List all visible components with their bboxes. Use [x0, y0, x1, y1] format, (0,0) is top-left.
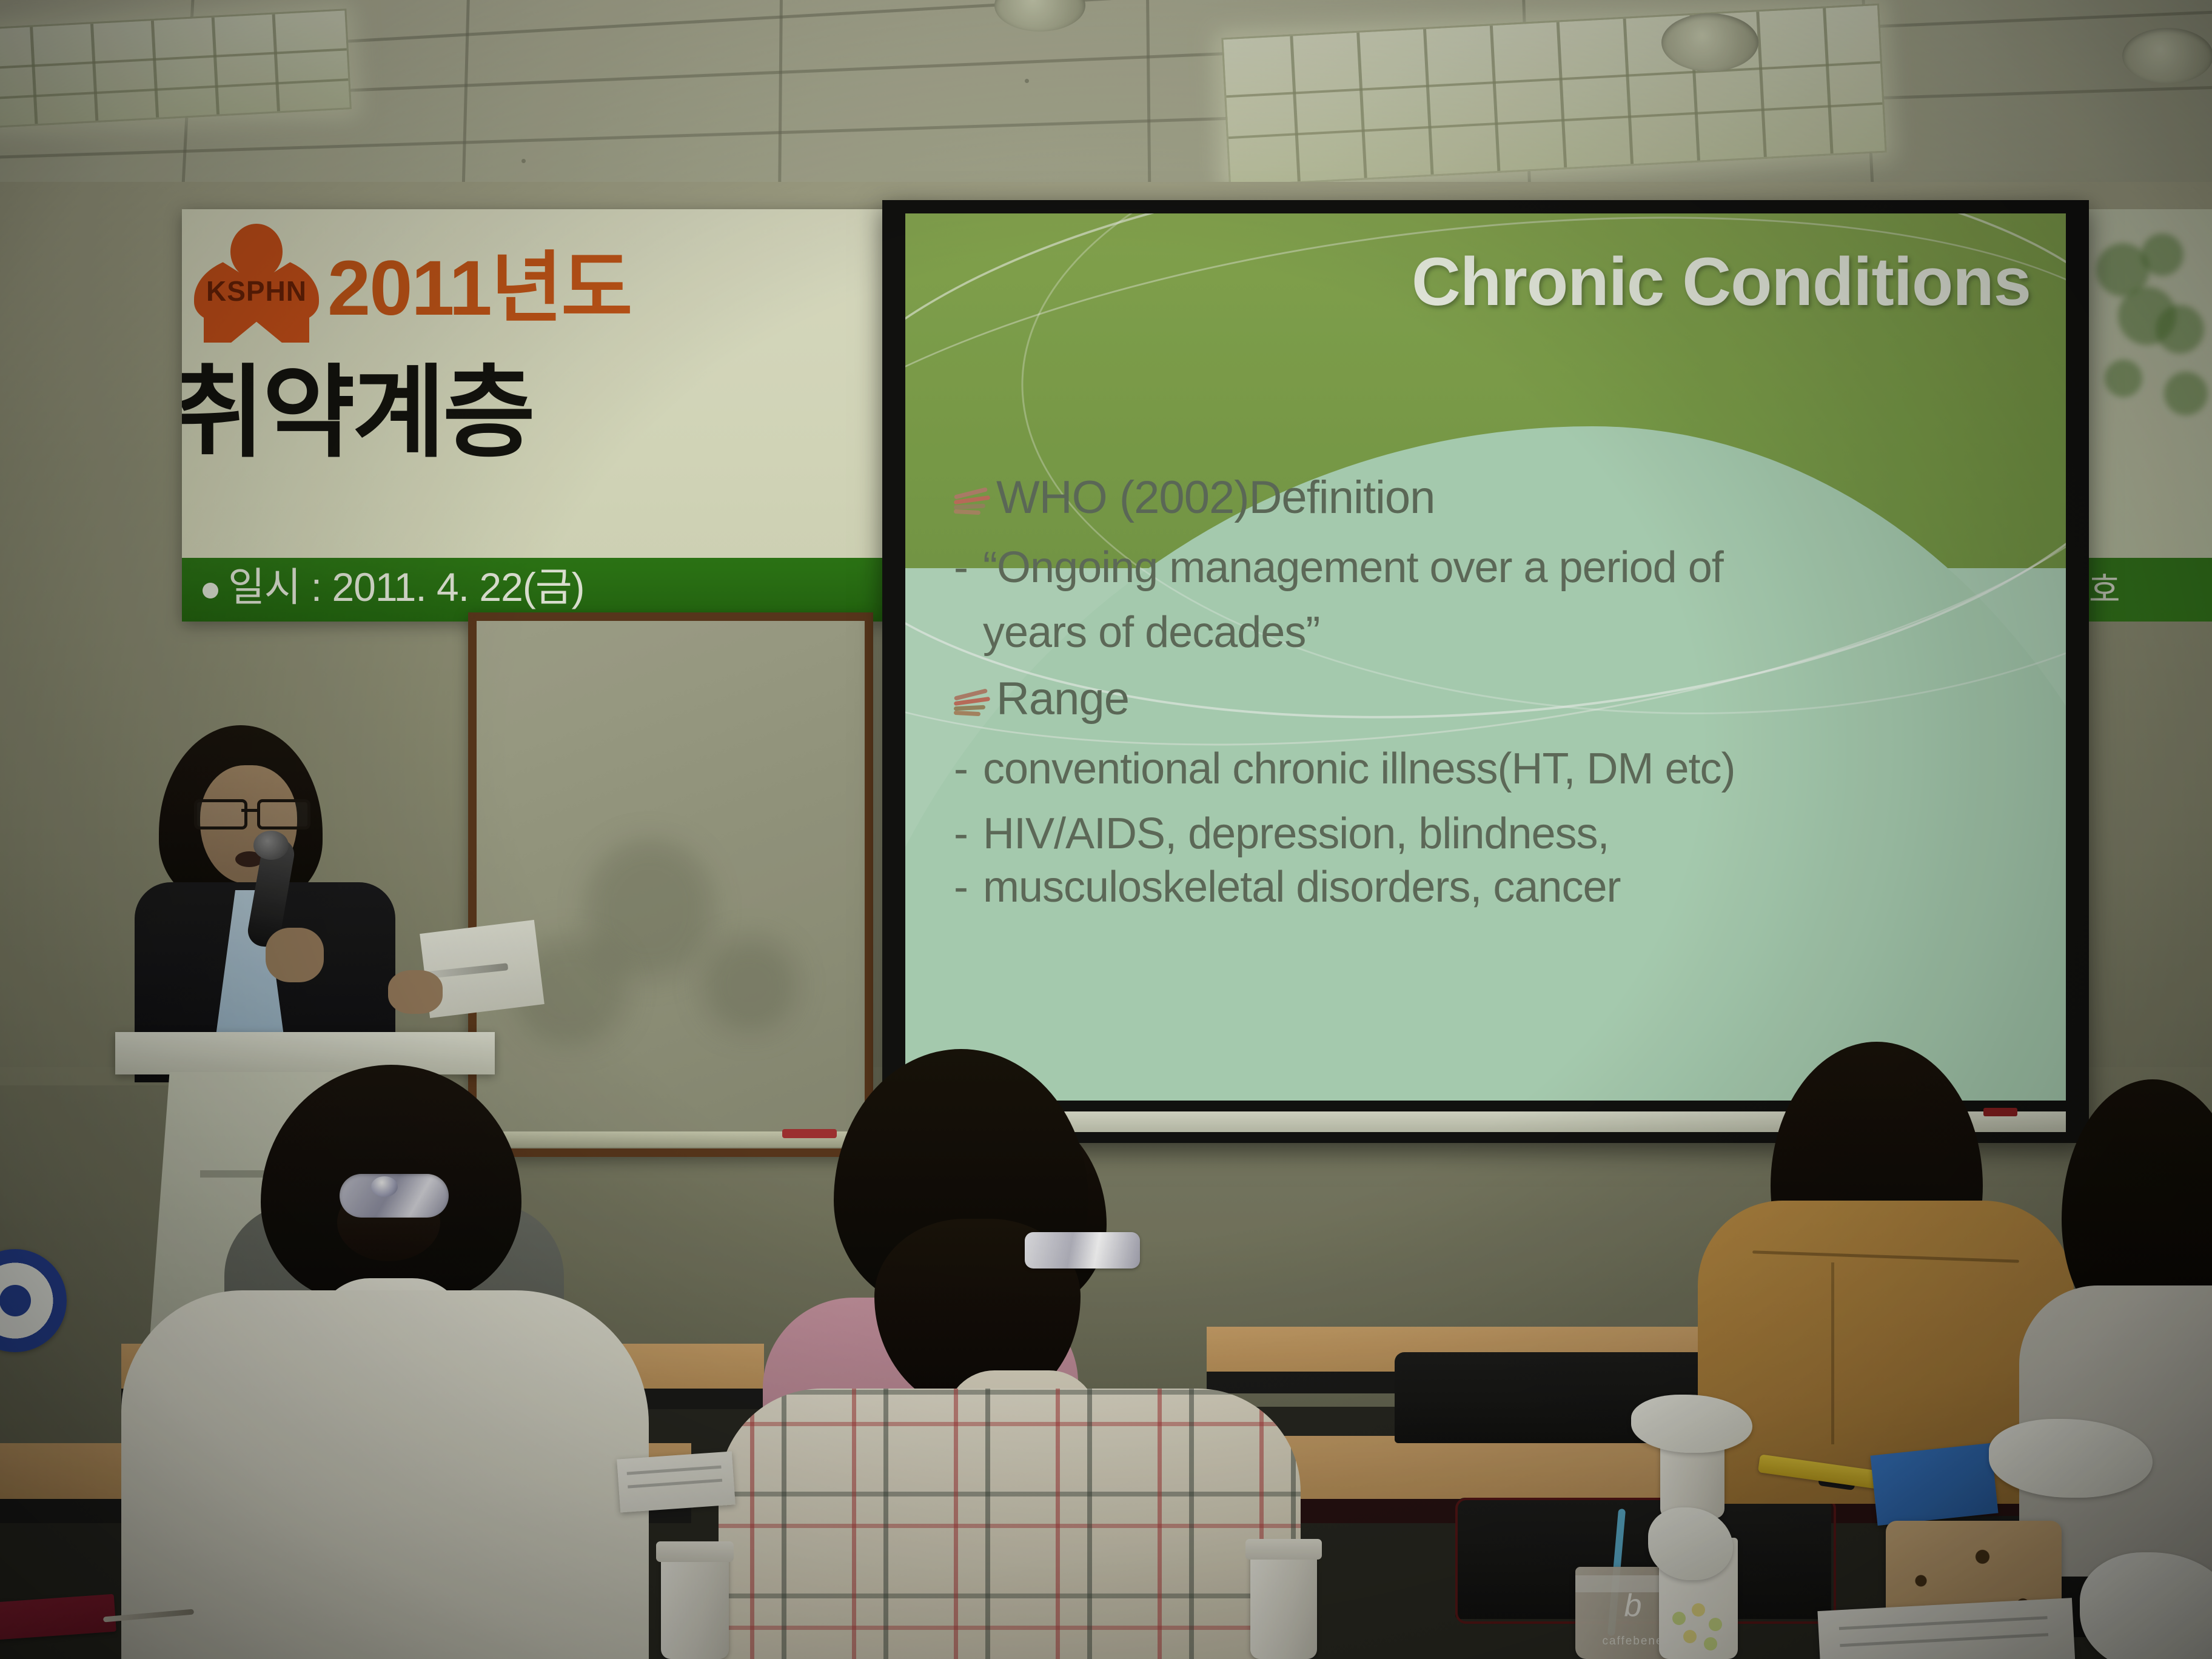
glasses-bridge-icon — [241, 809, 257, 812]
banner-right-fragment: 호 — [2089, 563, 2120, 612]
slide-bullet-4-text: conventional chronic illness(HT, DM etc) — [983, 747, 1735, 791]
event-banner-right-edge: 호 — [2083, 209, 2212, 622]
papers-front-right[interactable] — [1817, 1598, 2075, 1659]
slide-bullet-6: - musculoskeletal disorders, cancer — [954, 865, 2039, 910]
slide-bullet-1: - “Ongoing management over a period of — [954, 546, 2039, 590]
feather-bullet-icon-2 — [954, 690, 991, 718]
glasses-lens-left-icon — [194, 799, 247, 829]
projection-screen: Chronic Conditions WHO (2002)Definition … — [882, 200, 2089, 1143]
banner-date-text: 일시 : 2011. 4. 22(금) — [203, 555, 585, 613]
slide-title: Chronic Conditions — [905, 243, 2031, 321]
dash-bullet-icon-3: - — [954, 812, 983, 856]
event-banner: KSPHN 2011년도 취약계층 일시 : 2011. 4. 22(금) — [182, 209, 940, 622]
scrunchie-gem-icon — [371, 1176, 398, 1197]
audience-white-sweater-body — [121, 1290, 649, 1659]
recessed-downlight-2 — [1661, 13, 1758, 72]
dash-bullet-icon-2: - — [954, 747, 983, 791]
slide-bullet-6-text: musculoskeletal disorders, cancer — [983, 865, 1620, 910]
slide-bullet-0: WHO (2002)Definition — [954, 474, 2039, 521]
screen-indicator-light — [1983, 1108, 2017, 1116]
rhinestone-hair-clip-icon — [1025, 1232, 1140, 1269]
ceiling — [0, 0, 2212, 200]
banner-bullet-icon — [203, 583, 218, 598]
slide-bullet-4: - conventional chronic illness(HT, DM et… — [954, 747, 2039, 791]
slide-bullet-2-text: years of decades” — [983, 611, 1319, 655]
speaker-hand-papers — [388, 970, 443, 1014]
projection-screen-surface: Chronic Conditions WHO (2002)Definition … — [905, 213, 2066, 1101]
slide-bullet-3: Range — [954, 675, 2039, 723]
microphone-head-icon — [253, 831, 289, 860]
recessed-downlight-3 — [2122, 28, 2212, 84]
ceiling-light-left — [0, 8, 352, 128]
ksphn-logo-icon: KSPHN — [193, 223, 320, 338]
banner-year-text: 2011년도 — [327, 225, 631, 337]
feather-bullet-icon — [954, 489, 991, 517]
slide-bullet-list: WHO (2002)Definition - “Ongoing manageme… — [954, 474, 2039, 918]
presentation-slide: Chronic Conditions WHO (2002)Definition … — [905, 213, 2066, 1101]
audience-plaid-shirt-body — [719, 1389, 1301, 1659]
paper-cup-center-2-lid — [1245, 1539, 1322, 1560]
papers-left-desk[interactable] — [617, 1451, 736, 1512]
dash-bullet-icon: - — [954, 546, 983, 590]
banner-main-title: 취약계층 — [182, 330, 533, 477]
slide-bullet-5-text: HIV/AIDS, depression, blindness, — [983, 812, 1609, 856]
podium-top — [115, 1032, 495, 1074]
slide-bullet-2: years of decades” — [954, 611, 2039, 655]
audience-tan-jacket-seam-v — [1831, 1262, 1834, 1444]
red-notebook[interactable] — [0, 1594, 116, 1640]
paper-cup-center-2[interactable] — [1250, 1547, 1317, 1659]
recessed-downlight-1 — [994, 0, 1085, 32]
slide-bullet-1-text: “Ongoing management over a period of — [983, 546, 1723, 590]
glasses-lens-right-icon — [257, 799, 310, 829]
slide-bullet-5: - HIV/AIDS, depression, blindness, — [954, 812, 2039, 856]
lecture-room-photo: KSPHN 2011년도 취약계층 일시 : 2011. 4. 22(금) 호 — [0, 0, 2212, 1659]
slide-bullet-0-text: WHO (2002)Definition — [996, 474, 1435, 521]
blue-book[interactable] — [1870, 1443, 1998, 1526]
ksphn-logo-label: KSPHN — [193, 275, 320, 307]
plastic-bag-far-right — [2080, 1552, 2212, 1659]
dash-bullet-icon-4: - — [954, 865, 983, 910]
whiteboard-marker[interactable] — [782, 1129, 837, 1138]
whiteboard — [468, 612, 873, 1157]
paper-cup-center-lid — [656, 1541, 734, 1562]
slide-bullet-3-text: Range — [996, 675, 1129, 723]
speaker-hand-mic — [266, 928, 324, 982]
paper-cup-center[interactable] — [661, 1550, 729, 1659]
ceiling-light-right — [1221, 4, 1886, 187]
